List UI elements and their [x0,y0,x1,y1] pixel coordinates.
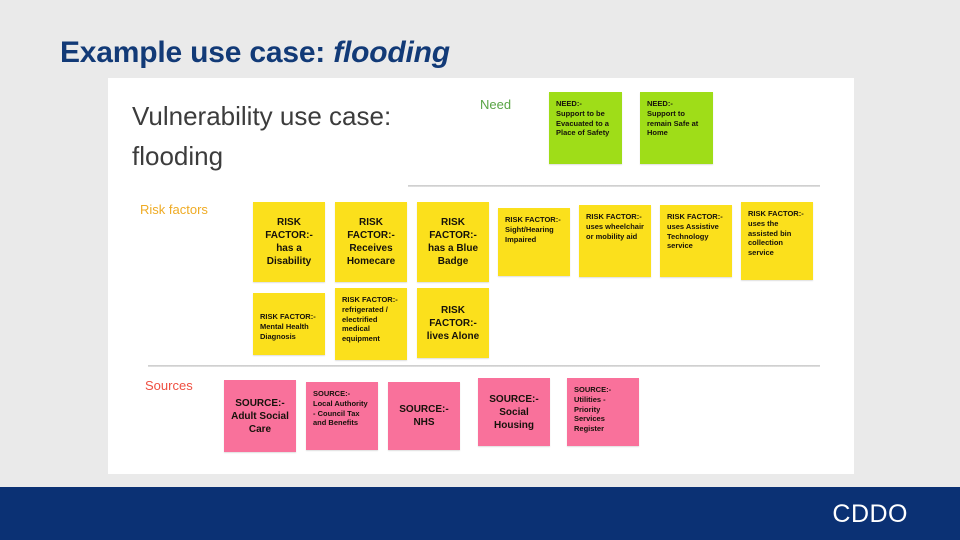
note-text: Receives Homecare [347,243,395,267]
note-prefix: NEED:- [647,99,707,109]
note-source[interactable]: SOURCE:- Adult Social Care [224,380,296,452]
note-risk-factor[interactable]: RISK FACTOR:- uses the assisted bin coll… [741,202,813,280]
section-label-need: Need [480,97,511,112]
note-risk-factor[interactable]: RISK FACTOR:- uses Assistive Technology … [660,205,732,277]
note-need[interactable]: NEED:- Support to be Evacuated to a Plac… [549,92,622,164]
note-text: has a Blue Badge [428,243,478,267]
note-text: uses the assisted bin collection service [748,219,807,258]
note-text: uses wheelchair or mobility aid [586,222,645,242]
note-prefix: SOURCE:- [235,398,284,409]
note-source[interactable]: SOURCE:- Local Authority - Council Tax a… [306,382,378,450]
note-text: lives Alone [427,331,479,342]
note-risk-factor[interactable]: RISK FACTOR:- uses wheelchair or mobilit… [579,205,651,277]
note-text: Support to be Evacuated to a Place of Sa… [556,109,616,138]
section-label-sources: Sources [145,378,193,393]
divider-sources [148,365,820,367]
note-prefix: RISK FACTOR:- [265,217,313,241]
note-text: Local Authority - Council Tax and Benefi… [313,399,372,428]
note-source[interactable]: SOURCE:- Social Housing [478,378,550,446]
footer-bar: CDDO [0,487,960,540]
note-text: uses Assistive Technology service [667,222,726,251]
note-risk-factor[interactable]: RISK FACTOR:- Mental Health Diagnosis [253,293,325,355]
note-risk-factor[interactable]: RISK FACTOR:- lives Alone [417,288,489,358]
note-prefix: RISK FACTOR:- [429,217,477,241]
note-prefix: SOURCE:- [399,404,448,415]
note-prefix: SOURCE:- [313,389,372,399]
note-text: has a Disability [267,243,311,267]
note-text: Sight/Hearing Impaired [505,225,564,245]
note-risk-factor[interactable]: RISK FACTOR:- has a Disability [253,202,325,282]
page-title: Example use case: flooding [60,36,450,70]
section-label-risk: Risk factors [140,202,208,217]
note-prefix: RISK FACTOR:- [347,217,395,241]
note-prefix: RISK FACTOR:- [429,305,477,329]
note-text: Mental Health Diagnosis [260,322,319,342]
note-text: NHS [413,417,434,428]
note-risk-factor[interactable]: RISK FACTOR:- Receives Homecare [335,202,407,282]
board-heading: Vulnerability use case: flooding [132,96,432,177]
page-title-emphasis: flooding [333,36,450,69]
note-source[interactable]: SOURCE:- NHS [388,382,460,450]
note-text: Utilities - Priority Services Register [574,395,633,434]
note-prefix: RISK FACTOR:- [505,215,564,225]
note-prefix: NEED:- [556,99,616,109]
cddo-logo: CDDO [832,500,908,529]
note-prefix: SOURCE:- [489,394,538,405]
note-risk-factor[interactable]: RISK FACTOR:- refrigerated / electrified… [335,288,407,360]
note-prefix: RISK FACTOR:- [342,295,401,305]
note-prefix: RISK FACTOR:- [667,212,726,222]
note-risk-factor[interactable]: RISK FACTOR:- Sight/Hearing Impaired [498,208,570,276]
note-prefix: SOURCE:- [574,385,633,395]
divider-need [408,185,820,187]
note-source[interactable]: SOURCE:- Utilities - Priority Services R… [567,378,639,446]
note-prefix: RISK FACTOR:- [748,209,807,219]
page-title-main: Example use case: [60,36,325,69]
board-panel: Vulnerability use case: flooding Need Ri… [108,78,854,474]
note-prefix: RISK FACTOR:- [260,312,319,322]
note-text: Support to remain Safe at Home [647,109,707,138]
note-need[interactable]: NEED:- Support to remain Safe at Home [640,92,713,164]
note-text: refrigerated / electrified medical equip… [342,305,401,344]
note-risk-factor[interactable]: RISK FACTOR:- has a Blue Badge [417,202,489,282]
note-text: Social Housing [494,407,534,431]
note-prefix: RISK FACTOR:- [586,212,645,222]
note-text: Adult Social Care [231,411,289,435]
